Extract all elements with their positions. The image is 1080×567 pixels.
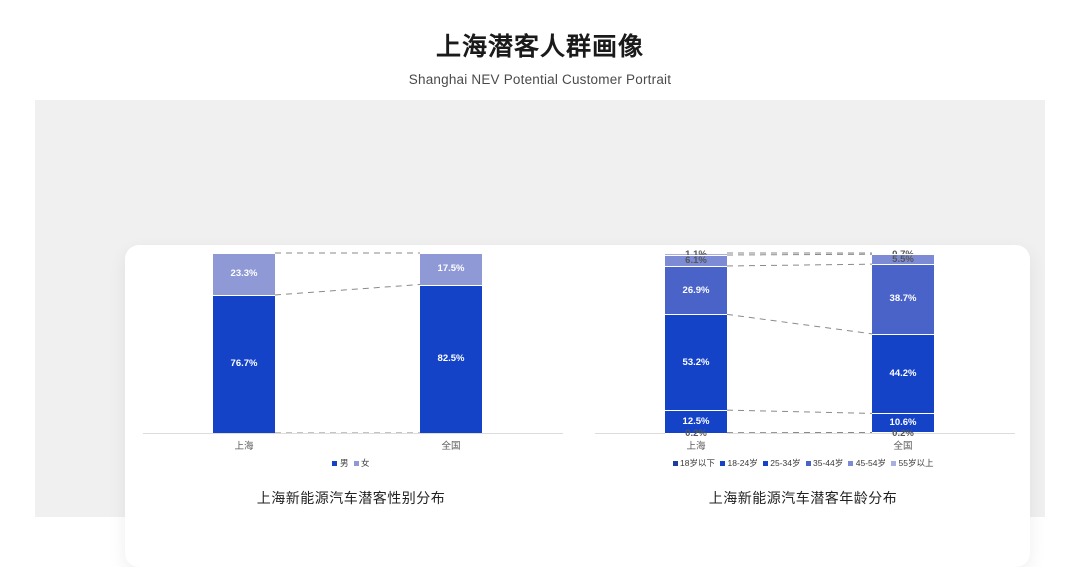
age-segment-national-2[interactable]: 44.2%: [872, 334, 934, 414]
legend-item-3[interactable]: 35-44岁: [806, 457, 844, 469]
legend-swatch-icon: [673, 461, 678, 466]
age-segment-national-0[interactable]: 0.2%: [872, 432, 934, 433]
age-segment-shanghai-4[interactable]: 6.1%: [665, 255, 727, 266]
legend-age: 18岁以下18-24岁25-34岁35-44岁45-54岁55岁以上: [577, 457, 1029, 469]
chart-caption-age: 上海新能源汽车潜客年龄分布: [577, 488, 1029, 508]
legend-item-1[interactable]: 女: [354, 457, 370, 469]
gender-segment-national-1[interactable]: 17.5%: [420, 253, 482, 285]
legend-label: 男: [340, 457, 349, 469]
legend-label: 18岁以下: [680, 457, 715, 469]
legend-swatch-icon: [806, 461, 811, 466]
legend-gender: 男女: [125, 457, 577, 469]
legend-item-2[interactable]: 25-34岁: [763, 457, 801, 469]
page-title: 上海潜客人群画像: [0, 0, 1080, 63]
legend-label: 女: [361, 457, 370, 469]
legend-swatch-icon: [848, 461, 853, 466]
connector-bands-gender: [125, 245, 577, 455]
charts-card: 23.3%76.7%17.5%82.5% 男女 上海新能源汽车潜客性别分布 上海…: [125, 245, 1030, 567]
x-tick-label: 全国: [893, 438, 912, 452]
x-tick-label: 上海: [234, 438, 253, 452]
plot-area-age: 1.1%6.1%26.9%53.2%12.5%0.2%0.7%5.5%38.7%…: [577, 245, 1029, 455]
plot-area-gender: 23.3%76.7%17.5%82.5%: [125, 245, 577, 455]
age-value-label: 53.2%: [683, 358, 710, 368]
age-bar-shanghai[interactable]: 1.1%6.1%26.9%53.2%12.5%0.2%: [665, 253, 727, 433]
age-segment-shanghai-3[interactable]: 26.9%: [665, 266, 727, 314]
gender-value-label: 17.5%: [438, 264, 465, 274]
x-axis-line: [595, 433, 1015, 434]
age-segment-shanghai-2[interactable]: 53.2%: [665, 314, 727, 410]
age-segment-national-4[interactable]: 5.5%: [872, 254, 934, 264]
legend-label: 18-24岁: [728, 457, 758, 469]
x-tick-label: 全国: [441, 438, 460, 452]
page-subtitle: Shanghai NEV Potential Customer Portrait: [0, 63, 1080, 87]
gender-value-label: 23.3%: [231, 269, 258, 279]
legend-item-1[interactable]: 18-24岁: [720, 457, 758, 469]
legend-label: 55岁以上: [899, 457, 934, 469]
age-value-label: 44.2%: [890, 369, 917, 379]
legend-swatch-icon: [720, 461, 725, 466]
legend-item-0[interactable]: 18岁以下: [673, 457, 715, 469]
gender-segment-national-0[interactable]: 82.5%: [420, 285, 482, 434]
gender-segment-shanghai-0[interactable]: 76.7%: [213, 295, 275, 433]
gender-segment-shanghai-1[interactable]: 23.3%: [213, 253, 275, 295]
x-axis-line: [143, 433, 563, 434]
legend-label: 25-34岁: [770, 457, 800, 469]
chart-gender-distribution: 23.3%76.7%17.5%82.5% 男女 上海新能源汽车潜客性别分布 上海…: [125, 245, 577, 567]
page-header: 上海潜客人群画像 Shanghai NEV Potential Customer…: [0, 0, 1080, 87]
legend-item-0[interactable]: 男: [332, 457, 348, 469]
age-segment-national-3[interactable]: 38.7%: [872, 264, 934, 334]
age-value-label: 12.5%: [683, 417, 710, 427]
gender-value-label: 82.5%: [438, 354, 465, 364]
legend-swatch-icon: [891, 461, 896, 466]
age-segment-shanghai-0[interactable]: 0.2%: [665, 433, 727, 434]
chart-caption-gender: 上海新能源汽车潜客性别分布: [125, 488, 577, 508]
legend-swatch-icon: [763, 461, 768, 466]
legend-item-5[interactable]: 55岁以上: [891, 457, 933, 469]
gender-bar-national[interactable]: 17.5%82.5%: [420, 253, 482, 433]
legend-label: 35-44岁: [813, 457, 843, 469]
legend-swatch-icon: [354, 461, 359, 466]
connector-bands-age: [577, 245, 1029, 455]
gender-bar-shanghai[interactable]: 23.3%76.7%: [213, 253, 275, 433]
chart-age-distribution: 1.1%6.1%26.9%53.2%12.5%0.2%0.7%5.5%38.7%…: [577, 245, 1029, 567]
charts-row: 23.3%76.7%17.5%82.5% 男女 上海新能源汽车潜客性别分布 上海…: [125, 245, 1030, 567]
legend-swatch-icon: [332, 461, 337, 466]
age-bar-national[interactable]: 0.7%5.5%38.7%44.2%10.6%0.2%: [872, 253, 934, 433]
age-value-label: 26.9%: [683, 286, 710, 296]
legend-item-4[interactable]: 45-54岁: [848, 457, 886, 469]
legend-label: 45-54岁: [856, 457, 886, 469]
x-tick-label: 上海: [686, 438, 705, 452]
gender-value-label: 76.7%: [231, 359, 258, 369]
content-panel: 23.3%76.7%17.5%82.5% 男女 上海新能源汽车潜客性别分布 上海…: [35, 100, 1045, 517]
age-value-label: 38.7%: [890, 294, 917, 304]
